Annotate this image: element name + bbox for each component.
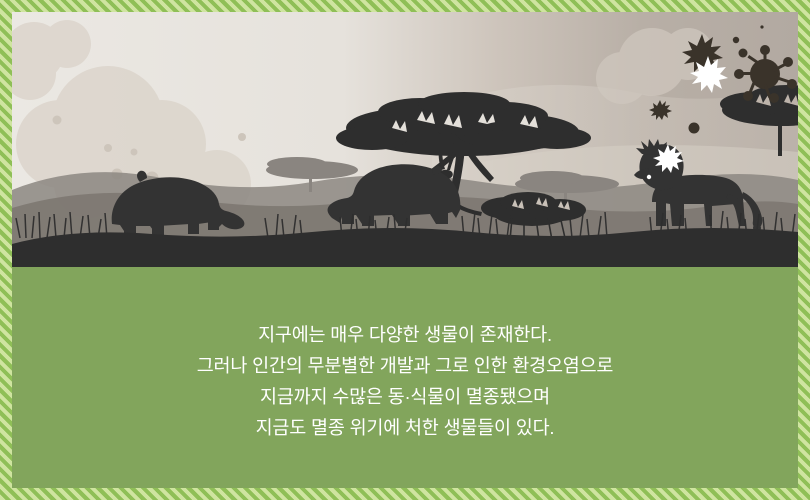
poster-frame: 지구에는 매우 다양한 생물이 존재한다. 그러나 인간의 무분별한 개발과 그… [0, 0, 810, 500]
caption-line-3: 지금까지 수많은 동·식물이 멸종됐으며 [197, 381, 614, 412]
dot-dark-tiny [760, 25, 763, 28]
dot-dark-small [733, 37, 739, 43]
caption-line-4: 지금도 멸종 위기에 처한 생물들이 있다. [197, 412, 614, 443]
ground-base [12, 248, 798, 267]
caption-text-block: 지구에는 매우 다양한 생물이 존재한다. 그러나 인간의 무분별한 개발과 그… [197, 313, 614, 443]
caption-line-2: 그러나 인간의 무분별한 개발과 그로 인한 환경오염으로 [197, 350, 614, 381]
poster-inner: 지구에는 매우 다양한 생물이 존재한다. 그러나 인간의 무분별한 개발과 그… [12, 12, 798, 488]
caption-panel: 지구에는 매우 다양한 생물이 존재한다. 그러나 인간의 무분별한 개발과 그… [12, 267, 798, 488]
dot-white-tiny [647, 175, 651, 179]
caption-line-1: 지구에는 매우 다양한 생물이 존재한다. [197, 319, 614, 350]
savanna-illustration [12, 12, 798, 267]
dot-dark-medium [689, 123, 700, 134]
